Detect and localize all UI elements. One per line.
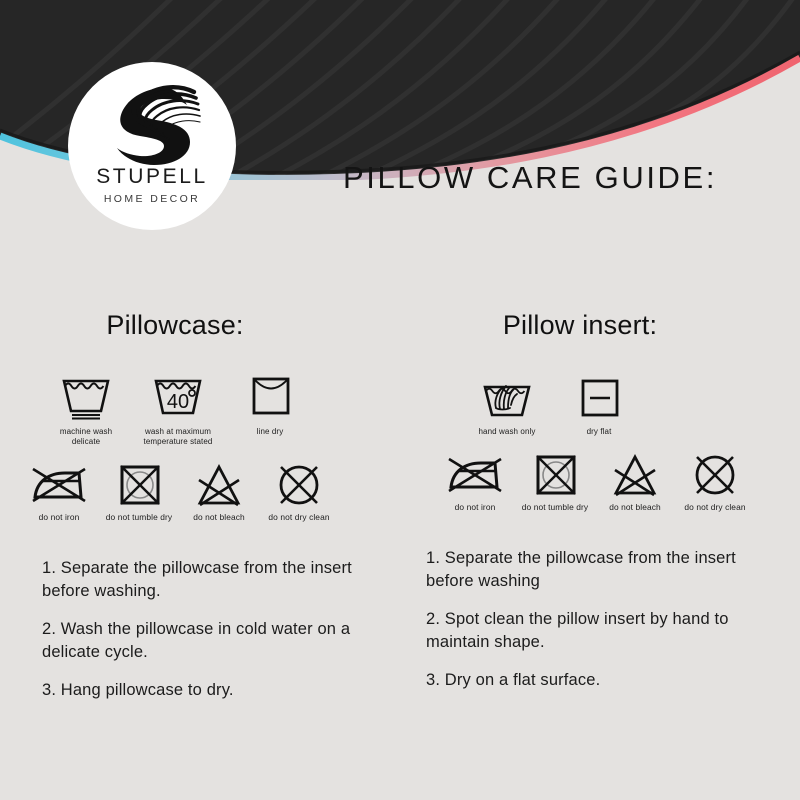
care-icon-label: do not iron bbox=[39, 512, 80, 523]
insert-instructions: 1. Separate the pillowcase from the inse… bbox=[400, 547, 780, 693]
care-icon-label: do not tumble dry bbox=[106, 512, 172, 523]
pillowcase-instructions: 1. Separate the pillowcase from the inse… bbox=[20, 557, 400, 703]
do-not-tumble-dry-icon: do not tumble dry bbox=[102, 463, 176, 523]
section-heading-pillow-insert: Pillow insert: bbox=[400, 310, 780, 341]
line-dry-icon: line dry bbox=[231, 371, 309, 437]
do-not-dry-clean-icon: do not dry clean bbox=[678, 453, 752, 513]
stupell-s-swoosh-icon bbox=[102, 76, 202, 168]
do-not-bleach-icon: do not bleach bbox=[182, 463, 256, 523]
section-heading-pillowcase: Pillowcase: bbox=[20, 310, 400, 341]
do-not-iron-icon: do not iron bbox=[438, 453, 512, 513]
care-icon-label: do not iron bbox=[455, 502, 496, 513]
care-icon-label: machine wash delicate bbox=[60, 427, 112, 447]
care-icon-label: do not bleach bbox=[193, 512, 245, 523]
care-icon-label: wash at maximum temperature stated bbox=[144, 427, 213, 447]
hand-wash-only-icon: hand wash only bbox=[468, 371, 546, 437]
do-not-tumble-dry-icon: do not tumble dry bbox=[518, 453, 592, 513]
instruction-item: 3. Dry on a flat surface. bbox=[426, 669, 772, 693]
section-pillow-insert: Pillow insert: bbox=[400, 310, 780, 706]
section-pillowcase: Pillowcase: machine wash delicate bbox=[20, 310, 400, 716]
insert-primary-icon-row: hand wash only dry flat bbox=[400, 371, 780, 437]
brand-subwordmark: HOME DECOR bbox=[104, 194, 200, 205]
care-icon-label: dry flat bbox=[587, 427, 612, 437]
care-icon-label: do not tumble dry bbox=[522, 502, 588, 513]
wash-temperature-value: 40 bbox=[167, 391, 189, 413]
instruction-item: 3. Hang pillowcase to dry. bbox=[42, 679, 392, 703]
do-not-bleach-icon: do not bleach bbox=[598, 453, 672, 513]
wash-at-40-degrees-icon: 40 wash at maximum temperature stated bbox=[139, 371, 217, 447]
pillow-care-guide-page: STUPELL HOME DECOR PILLOW CARE GUIDE: Pi… bbox=[0, 0, 800, 800]
dry-flat-icon: dry flat bbox=[560, 371, 638, 437]
care-icon-label: hand wash only bbox=[479, 427, 536, 437]
brand-wordmark: STUPELL bbox=[96, 166, 208, 187]
instruction-item: 2. Spot clean the pillow insert by hand … bbox=[426, 608, 772, 655]
do-not-iron-icon: do not iron bbox=[22, 463, 96, 523]
do-not-dry-clean-icon: do not dry clean bbox=[262, 463, 336, 523]
brand-logo-badge[interactable]: STUPELL HOME DECOR bbox=[68, 62, 236, 230]
page-title: PILLOW CARE GUIDE: bbox=[300, 160, 760, 196]
instruction-item: 2. Wash the pillowcase in cold water on … bbox=[42, 618, 392, 665]
instruction-item: 1. Separate the pillowcase from the inse… bbox=[42, 557, 392, 604]
machine-wash-delicate-icon: machine wash delicate bbox=[47, 371, 125, 447]
care-icon-label: do not dry clean bbox=[268, 512, 329, 523]
care-icon-label: do not bleach bbox=[609, 502, 661, 513]
pillowcase-secondary-icon-row: do not iron do not tumble dry do not ble… bbox=[20, 463, 400, 523]
pillowcase-primary-icon-row: machine wash delicate 40 wash at maximum… bbox=[20, 371, 400, 447]
instruction-item: 1. Separate the pillowcase from the inse… bbox=[426, 547, 772, 594]
insert-secondary-icon-row: do not iron do not tumble dry do not ble… bbox=[400, 453, 780, 513]
care-icon-label: do not dry clean bbox=[684, 502, 745, 513]
care-icon-label: line dry bbox=[257, 427, 284, 437]
